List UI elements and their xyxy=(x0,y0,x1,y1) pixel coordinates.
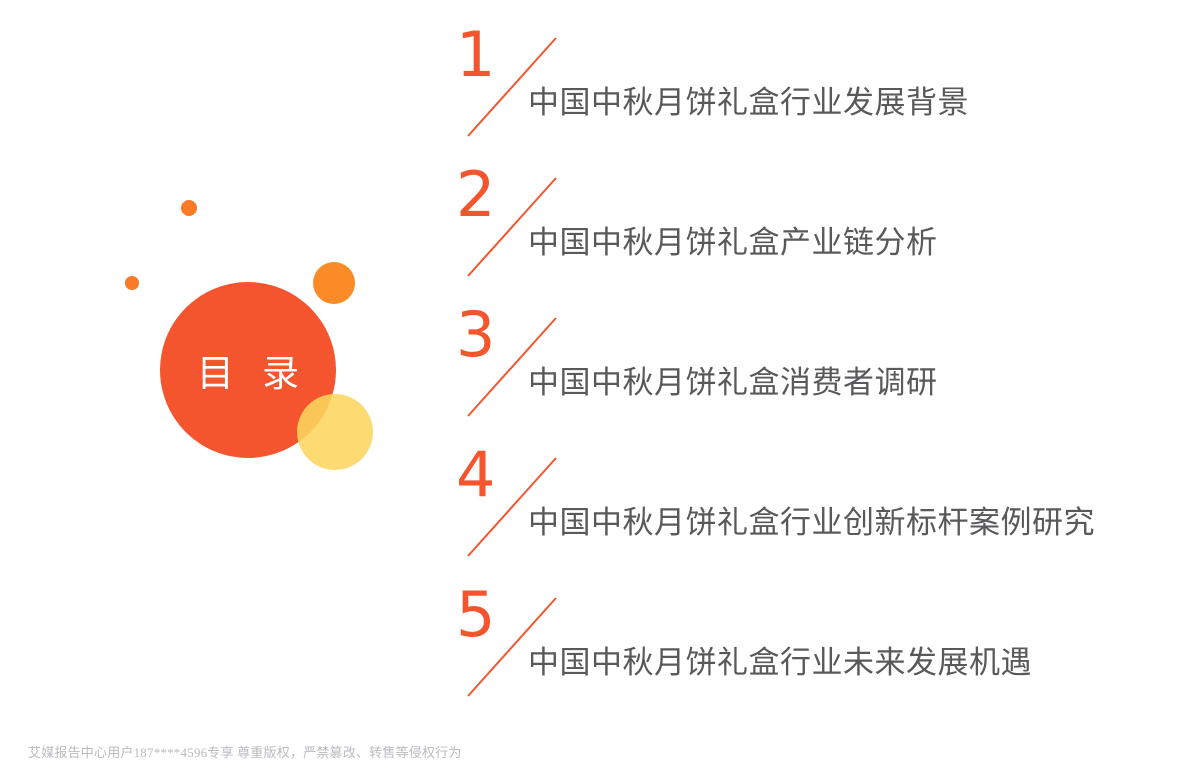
page-title: 目 录 xyxy=(160,282,336,458)
decorative-dot-upper xyxy=(181,200,197,216)
toc-number-5: 5 xyxy=(456,584,495,646)
slide-table-of-contents: 目 录 1 中国中秋月饼礼盒行业发展背景 2 中国中秋月饼礼盒产业链分析 3 中… xyxy=(0,0,1190,774)
toc-number-1: 1 xyxy=(456,24,495,86)
toc-number-2: 2 xyxy=(456,164,495,226)
toc-label-1: 中国中秋月饼礼盒行业发展背景 xyxy=(528,80,969,126)
toc-item-5[interactable]: 5 中国中秋月饼礼盒行业未来发展机遇 xyxy=(440,578,1190,718)
toc-item-4[interactable]: 4 中国中秋月饼礼盒行业创新标杆案例研究 xyxy=(440,438,1190,578)
toc-item-2[interactable]: 2 中国中秋月饼礼盒产业链分析 xyxy=(440,158,1190,298)
toc-item-3[interactable]: 3 中国中秋月饼礼盒消费者调研 xyxy=(440,298,1190,438)
toc-label-5: 中国中秋月饼礼盒行业未来发展机遇 xyxy=(528,640,1032,686)
decorative-dot-left xyxy=(125,276,139,290)
toc-label-3: 中国中秋月饼礼盒消费者调研 xyxy=(528,360,938,406)
toc-number-4: 4 xyxy=(456,444,495,506)
footer-watermark: 艾媒报告中心用户187****4596专享 尊重版权，严禁篡改、转售等侵权行为 xyxy=(28,744,462,762)
toc-label-4: 中国中秋月饼礼盒行业创新标杆案例研究 xyxy=(528,500,1095,546)
toc-item-1[interactable]: 1 中国中秋月饼礼盒行业发展背景 xyxy=(440,18,1190,158)
toc-label-2: 中国中秋月饼礼盒产业链分析 xyxy=(528,220,938,266)
table-of-contents-list: 1 中国中秋月饼礼盒行业发展背景 2 中国中秋月饼礼盒产业链分析 3 中国中秋月… xyxy=(440,0,1190,720)
toc-number-3: 3 xyxy=(456,304,495,366)
decorative-circle-cluster: 目 录 xyxy=(0,0,440,560)
